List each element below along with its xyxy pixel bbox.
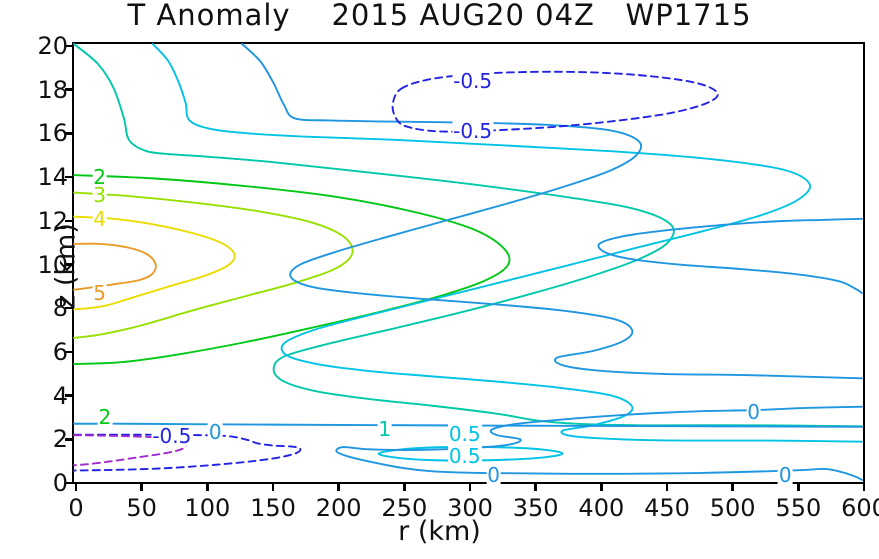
x-tick-550 [797,482,800,491]
y-tick-label-18: 18 [37,76,68,104]
contour-line-3 [74,193,353,338]
contour-label-5: 5 [92,283,107,303]
x-tick-0 [75,482,78,491]
contour-line-0-mid [598,219,862,293]
x-tick-250 [403,482,406,491]
x-tick-200 [337,482,340,491]
contour-label-3: 3 [92,185,107,205]
y-tick-label-0: 0 [53,469,68,497]
x-tick-350 [534,482,537,491]
contour-label-0: 0 [208,422,223,442]
contour-label-1: 1 [377,419,392,439]
x-tick-50 [140,482,143,491]
y-tick-label-10: 10 [37,251,68,279]
contour-label-4: 4 [92,209,107,229]
x-tick-300 [469,482,472,491]
contour-label-neg0p5: -0.5 [452,71,493,91]
x-tick-400 [600,482,603,491]
y-tick-label-2: 2 [53,425,68,453]
y-tick-label-6: 6 [53,338,68,366]
x-tick-600 [863,482,866,491]
x-axis-label: r (km) [0,516,879,547]
plot-area: z (km) 02468101214161820 050100150200250… [72,42,865,484]
contour-label-0: 0 [778,465,793,485]
contour-line-5 [74,244,156,290]
x-tick-450 [666,482,669,491]
x-tick-500 [731,482,734,491]
contour-label-neg0p5: -0.5 [452,121,493,141]
y-tick-label-4: 4 [53,382,68,410]
contour-line-1 [74,44,862,426]
contour-label-0: 0 [486,465,501,485]
contour-label-0: 0 [746,402,761,422]
contour-label-2: 2 [98,407,113,427]
y-tick-label-16: 16 [37,119,68,147]
contour-label-neg0p5: -0.5 [151,426,192,446]
x-tick-100 [206,482,209,491]
y-tick-label-8: 8 [53,294,68,322]
contour-label-0p5: 0.5 [448,446,482,466]
chart-title: T Anomaly 2015 AUG20 04Z WP1715 [0,0,879,32]
contour-line-0-upper [242,44,862,378]
y-tick-label-12: 12 [37,207,68,235]
x-tick-150 [272,482,275,491]
y-tick-label-20: 20 [37,32,68,60]
contour-line-0.5 [153,44,862,442]
contour-label-0p5: 0.5 [448,424,482,444]
y-tick-label-14: 14 [37,163,68,191]
